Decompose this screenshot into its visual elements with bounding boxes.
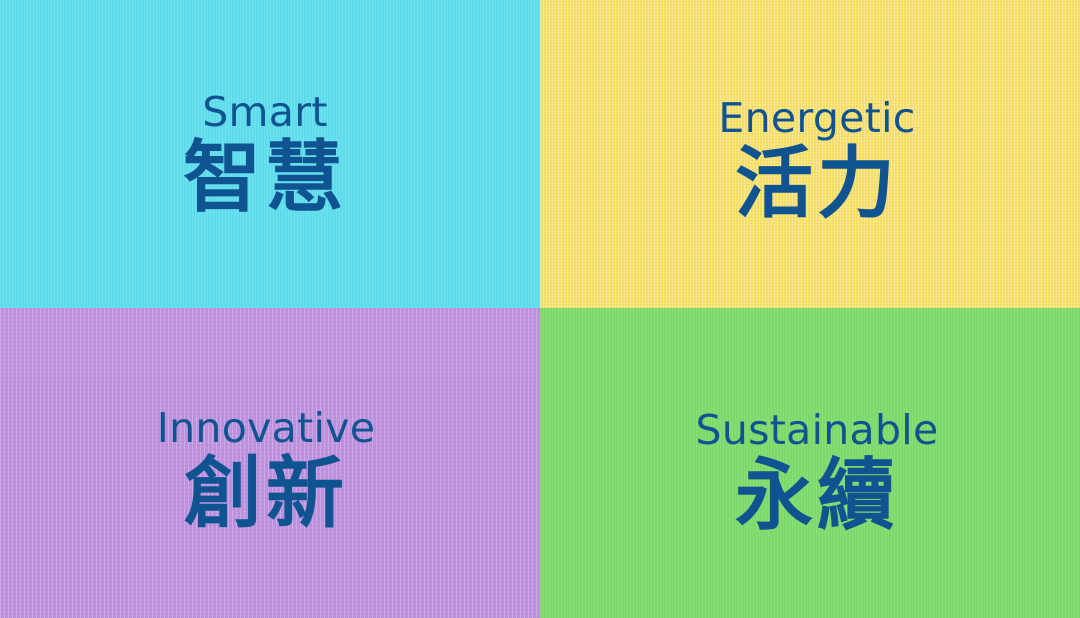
value-label-sustainable-english: Sustainable [695, 410, 938, 451]
value-label-innovative-english: Innovative [157, 408, 376, 449]
value-label-sustainable: Sustainable 永續 [695, 410, 938, 535]
value-label-energetic: Energetic 活力 [718, 98, 915, 223]
value-label-innovative-chinese: 創新 [157, 455, 376, 533]
value-label-energetic-english: Energetic [718, 98, 915, 139]
value-label-smart-chinese: 智慧 [183, 139, 347, 217]
value-label-innovative: Innovative 創新 [157, 408, 376, 533]
brand-values-poster: Smart 智慧 Energetic 活力 Innovative 創新 Sust… [0, 0, 1080, 618]
value-label-smart-english: Smart [183, 92, 347, 133]
value-label-smart: Smart 智慧 [183, 92, 347, 217]
value-label-sustainable-chinese: 永續 [695, 457, 938, 535]
value-label-energetic-chinese: 活力 [718, 145, 915, 223]
